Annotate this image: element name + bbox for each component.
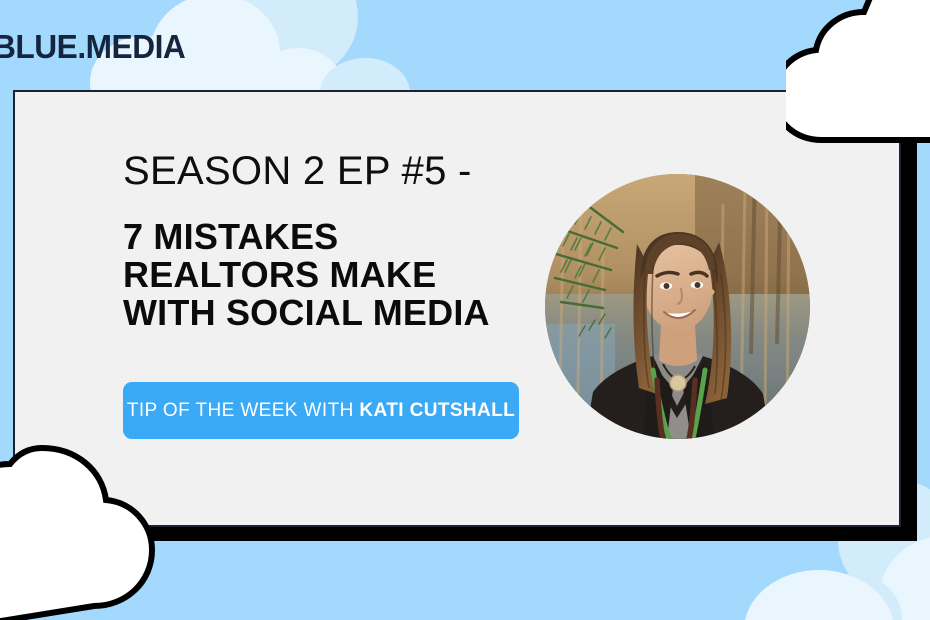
brand-logo: BLUE.MEDIA	[0, 28, 185, 66]
headline-line-2: REALTORS MAKE	[123, 256, 490, 294]
content-card: SEASON 2 EP #5 - 7 MISTAKES REALTORS MAK…	[13, 90, 901, 527]
tip-badge-prefix: TIP OF THE WEEK WITH	[127, 400, 360, 421]
episode-headline: 7 MISTAKES REALTORS MAKE WITH SOCIAL MED…	[123, 218, 490, 332]
tip-of-the-week-badge[interactable]: TIP OF THE WEEK WITH KATI CUTSHALL	[123, 382, 519, 439]
promo-graphic: SEASON 2 EP #5 - 7 MISTAKES REALTORS MAK…	[0, 0, 930, 620]
tip-badge-text: TIP OF THE WEEK WITH KATI CUTSHALL	[127, 400, 515, 422]
headline-line-3: WITH SOCIAL MEDIA	[123, 294, 490, 332]
guest-portrait-image	[545, 174, 810, 439]
headline-line-1: 7 MISTAKES	[123, 218, 490, 256]
tip-badge-guest-name: KATI CUTSHALL	[359, 400, 515, 421]
guest-portrait	[545, 174, 810, 439]
episode-eyebrow: SEASON 2 EP #5 -	[123, 149, 472, 194]
